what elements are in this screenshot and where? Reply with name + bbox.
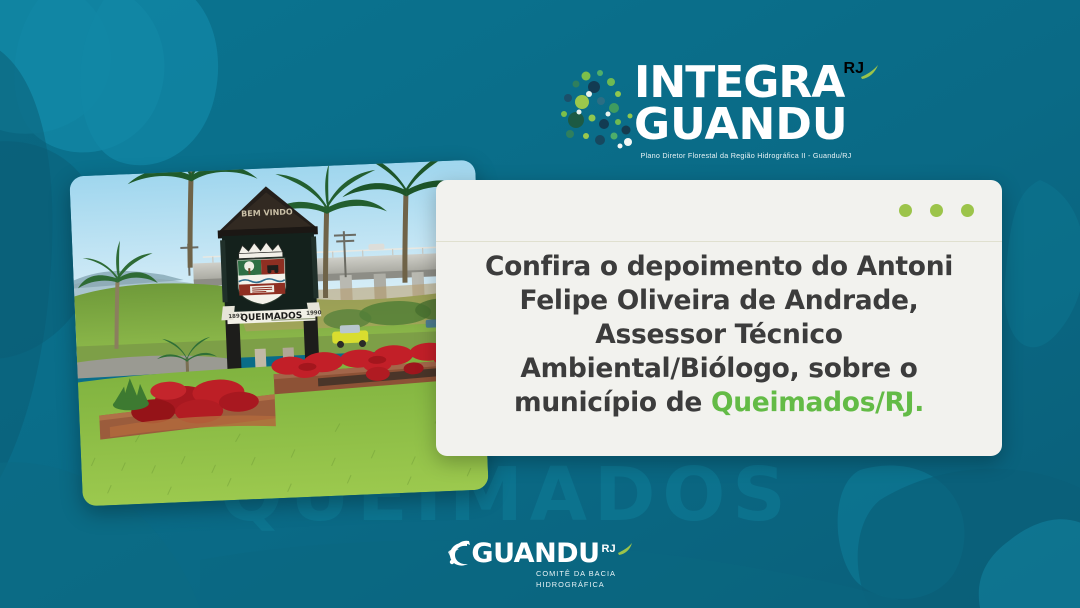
card-window-dots xyxy=(899,204,974,217)
testimonial-card: Confira o depoimento do Antoni Felipe Ol… xyxy=(436,180,1002,456)
footer-sub-line-2: HIDROGRÁFICA xyxy=(536,579,616,590)
integra-guandu-logo: INTEGRA GUANDU RJ Plano Diretor Floresta… xyxy=(556,62,856,167)
coat-of-arms xyxy=(236,242,287,306)
footer-sub-line-1: COMITÊ DA BACIA xyxy=(536,568,616,579)
card-highlight-city: Queimados/RJ. xyxy=(711,387,924,418)
dot-icon-2 xyxy=(930,204,943,217)
city-photo: BEM VINDO xyxy=(69,160,488,507)
footer-wordmark: GUANDU xyxy=(471,540,599,567)
footer-leaf-swoosh-icon xyxy=(617,542,633,556)
city-entrance-monument-photo: BEM VINDO xyxy=(69,160,488,507)
card-line-5: município de Queimados/RJ. xyxy=(462,386,976,420)
water-swirl-icon xyxy=(447,540,473,568)
logo-line-integra: INTEGRA xyxy=(634,62,858,104)
leaf-swoosh-icon xyxy=(860,64,880,80)
card-line-3: Assessor Técnico xyxy=(462,318,976,352)
card-line-2: Felipe Oliveira de Andrade, xyxy=(462,284,976,318)
dot-icon-1 xyxy=(899,204,912,217)
logo-subtitle: Plano Diretor Florestal da Região Hidrog… xyxy=(634,151,858,160)
footer-rj-mark: RJ xyxy=(602,543,616,555)
card-content: Confira o depoimento do Antoni Felipe Ol… xyxy=(462,250,976,420)
svg-text:1891: 1891 xyxy=(228,313,244,320)
network-dots-icon xyxy=(556,68,642,154)
card-line-5-plain: município de xyxy=(514,387,711,418)
svg-text:1990: 1990 xyxy=(306,310,322,317)
dot-icon-3 xyxy=(961,204,974,217)
card-line-4: Ambiental/Biólogo, sobre o xyxy=(462,352,976,386)
logo-line-guandu: GUANDU xyxy=(634,104,858,146)
card-line-1: Confira o depoimento do Antoni xyxy=(462,250,976,284)
guandu-comite-logo: GUANDU RJ COMITÊ DA BACIA HIDROGRÁFICA xyxy=(0,540,1080,590)
